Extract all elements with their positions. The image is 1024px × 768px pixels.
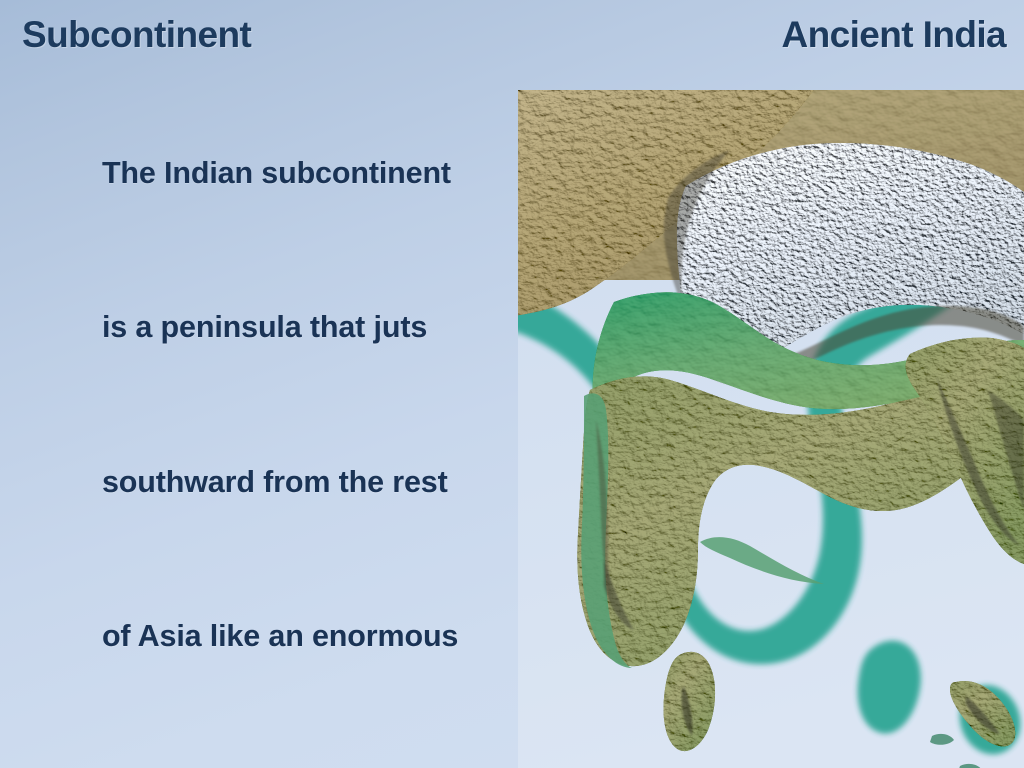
page-title-subcontinent: Subcontinent — [22, 14, 251, 56]
text-segment-dark: is a peninsula that juts — [102, 310, 427, 344]
text-line: The Indian subcontinent — [52, 96, 752, 251]
body-text-block: The Indian subcontinent is a peninsula t… — [52, 96, 752, 768]
text-line: arrowhead. The Himalayan — [52, 714, 752, 768]
text-line: of Asia like an enormous — [52, 560, 752, 715]
text-segment-dark: southward from the rest — [102, 465, 448, 499]
text-line: is a peninsula that juts — [52, 251, 752, 406]
slide-canvas: Subcontinent Ancient India The Indian su… — [0, 0, 1024, 768]
text-line: southward from the rest — [52, 405, 752, 560]
text-segment-dark: of Asia like an enormous — [102, 619, 458, 653]
page-title-ancient-india: Ancient India — [782, 14, 1007, 56]
text-segment-dark: The Indian subcontinent — [102, 156, 451, 190]
